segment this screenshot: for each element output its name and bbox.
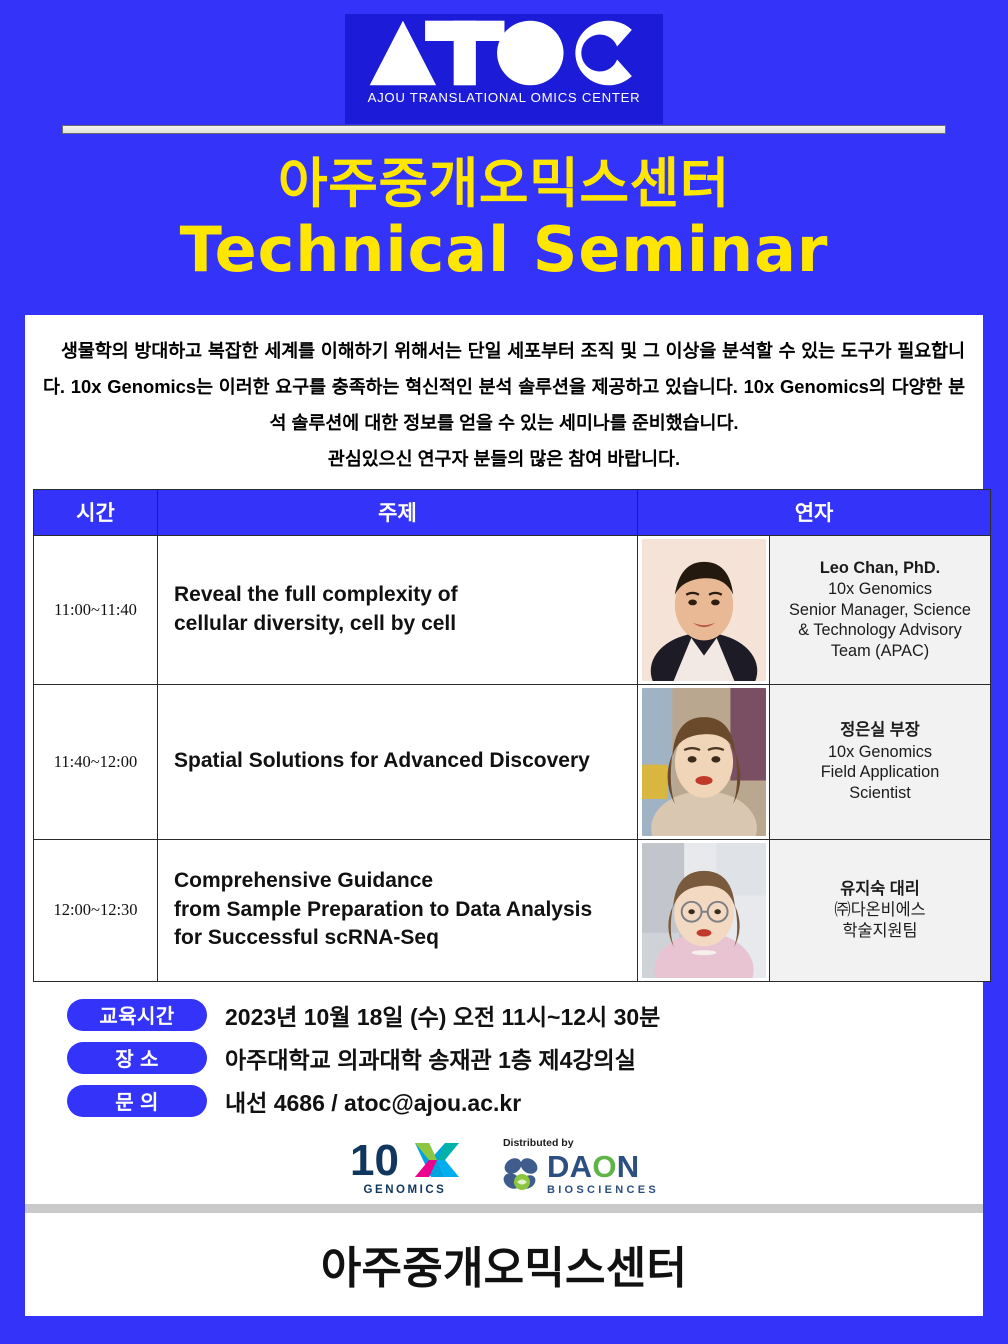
daon-letter-o: O	[592, 1149, 616, 1184]
session-topic: Reveal the full complexity of cellular d…	[158, 535, 638, 684]
footer-divider	[25, 1204, 983, 1213]
poster-header: AJOU TRANSLATIONAL OMICS CENTER	[0, 0, 1008, 148]
topic-line: cellular diversity, cell by cell	[174, 610, 637, 639]
portrait-leo-chan	[642, 539, 766, 681]
intro-body: 생물학의 방대하고 복잡한 세계를 이해하기 위해서는 단일 세포부터 조직 및…	[43, 340, 965, 433]
poster-body: 생물학의 방대하고 복잡한 세계를 이해하기 위해서는 단일 세포부터 조직 및…	[25, 315, 983, 1316]
svg-text:10: 10	[350, 1137, 399, 1183]
tenx-logo-wordmark: GENOMICS	[364, 1184, 447, 1196]
topic-line: Comprehensive Guidance	[174, 867, 637, 896]
session-time: 12:00~12:30	[34, 839, 158, 981]
title-korean: 아주중개오믹스센터	[0, 154, 1008, 214]
daon-letter-a: A	[570, 1149, 593, 1184]
speaker-photo-cell	[638, 535, 770, 684]
speaker-name: 유지숙 대리	[774, 879, 986, 901]
speaker-detail: 10x Genomics	[774, 579, 986, 600]
table-row: 12:00~12:30 Comprehensive Guidance from …	[34, 839, 991, 981]
schedule-table: 시간 주제 연자 11:00~11:40 Reveal the full com…	[33, 489, 991, 982]
info-row-schedule: 교육시간 2023년 10월 18일 (수) 오전 11시~12시 30분	[67, 998, 983, 1032]
speaker-detail: Team (APAC)	[774, 641, 986, 662]
daon-subtitle: BIOSCIENCES	[547, 1184, 659, 1196]
table-row: 11:00~11:40 Reveal the full complexity o…	[34, 535, 991, 684]
session-time: 11:00~11:40	[34, 535, 158, 684]
speaker-photo-cell	[638, 839, 770, 981]
daon-letter-d: D	[547, 1149, 570, 1184]
speaker-info: Leo Chan, PhD. 10x Genomics Senior Manag…	[770, 535, 991, 684]
schedule-table-zone: 시간 주제 연자 11:00~11:40 Reveal the full com…	[25, 483, 983, 982]
tenx-logo-icon: 10	[349, 1137, 461, 1183]
poster-footer: 아주중개오믹스센터	[25, 1213, 983, 1316]
info-value-location: 아주대학교 의과대학 송재관 1층 제4강의실	[225, 1041, 636, 1075]
portrait-jung-eunsil	[642, 688, 766, 836]
session-topic: Spatial Solutions for Advanced Discovery	[158, 684, 638, 839]
atoc-logo: AJOU TRANSLATIONAL OMICS CENTER	[345, 14, 663, 124]
schedule-header-row: 시간 주제 연자	[34, 489, 991, 535]
atoc-logo-subtitle: AJOU TRANSLATIONAL OMICS CENTER	[368, 90, 641, 105]
info-row-contact: 문 의 내선 4686 / atoc@ajou.ac.kr	[67, 1084, 983, 1118]
table-row: 11:40~12:00 Spatial Solutions for Advanc…	[34, 684, 991, 839]
distributed-by-label: Distributed by	[503, 1137, 574, 1149]
daon-biosciences-logo: Distributed by DAON BIOSCIENCES	[501, 1137, 659, 1195]
daon-wordmark: DAON	[547, 1152, 640, 1181]
column-header-speaker: 연자	[638, 489, 991, 535]
header-divider	[62, 125, 946, 134]
poster-title-block: 아주중개오믹스센터 Technical Seminar	[0, 148, 1008, 286]
column-header-time: 시간	[34, 489, 158, 535]
speaker-name: Leo Chan, PhD.	[774, 558, 986, 580]
speaker-detail: 학술지원팀	[774, 921, 986, 942]
speaker-detail: 10x Genomics	[774, 742, 986, 763]
portrait-yoo-jisuk	[642, 843, 766, 978]
info-row-location: 장 소 아주대학교 의과대학 송재관 1층 제4강의실	[67, 1041, 983, 1075]
event-info: 교육시간 2023년 10월 18일 (수) 오전 11시~12시 30분 장 …	[25, 982, 983, 1127]
speaker-info: 정은실 부장 10x Genomics Field Application Sc…	[770, 684, 991, 839]
column-header-topic: 주제	[158, 489, 638, 535]
session-topic: Comprehensive Guidance from Sample Prepa…	[158, 839, 638, 981]
info-label-badge: 문 의	[67, 1085, 207, 1117]
info-label-badge: 장 소	[67, 1042, 207, 1074]
topic-line: from Sample Preparation to Data Analysis	[174, 896, 637, 925]
speaker-name: 정은실 부장	[774, 720, 986, 742]
info-value-contact: 내선 4686 / atoc@ajou.ac.kr	[225, 1084, 521, 1118]
daon-letter-n: N	[617, 1149, 640, 1184]
tenx-genomics-logo: 10 GENOMICS	[349, 1137, 461, 1196]
info-value-schedule: 2023년 10월 18일 (수) 오전 11시~12시 30분	[225, 998, 660, 1032]
atoc-logo-mark	[366, 17, 643, 89]
footer-title: 아주중개오믹스센터	[321, 1232, 687, 1296]
speaker-detail: & Technology Advisory	[774, 620, 986, 641]
topic-line: Spatial Solutions for Advanced Discovery	[174, 747, 637, 776]
info-label-badge: 교육시간	[67, 999, 207, 1031]
session-time: 11:40~12:00	[34, 684, 158, 839]
intro-last-line: 관심있으신 연구자 분들의 많은 참여 바랍니다.	[43, 441, 965, 477]
speaker-photo-cell	[638, 684, 770, 839]
speaker-detail: Senior Manager, Science	[774, 600, 986, 621]
speaker-detail: ㈜다온비에스	[774, 900, 986, 921]
intro-paragraph: 생물학의 방대하고 복잡한 세계를 이해하기 위해서는 단일 세포부터 조직 및…	[25, 315, 983, 483]
topic-line: for Successful scRNA-Seq	[174, 924, 637, 953]
clover-icon	[501, 1155, 541, 1193]
title-english: Technical Seminar	[0, 214, 1008, 285]
seminar-poster: AJOU TRANSLATIONAL OMICS CENTER 아주중개오믹스센…	[0, 0, 1008, 1344]
speaker-detail: Field Application	[774, 762, 986, 783]
sponsor-logos: 10 GENOMICS Distributed by	[25, 1127, 983, 1196]
speaker-info: 유지숙 대리 ㈜다온비에스 학술지원팀	[770, 839, 991, 981]
topic-line: Reveal the full complexity of	[174, 581, 637, 610]
speaker-detail: Scientist	[774, 783, 986, 804]
